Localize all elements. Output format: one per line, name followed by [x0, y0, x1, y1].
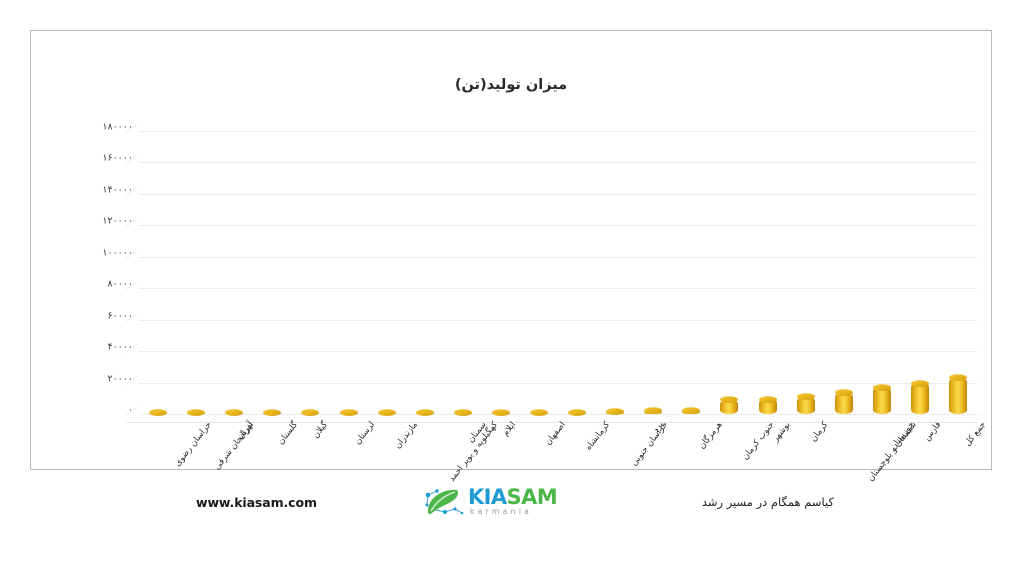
y-axis-tick-label: ۱۰۰۰۰۰: [71, 247, 133, 258]
bar[interactable]: [568, 412, 586, 414]
y-axis-tick-label: ۱۸۰۰۰۰: [71, 122, 133, 133]
chart-title: میزان تولید(تن): [31, 77, 991, 93]
bar-cap: [378, 409, 396, 416]
y-axis-tick-label: ۸۰۰۰۰: [71, 279, 133, 290]
bar[interactable]: [263, 413, 281, 415]
bar-cap: [949, 374, 967, 381]
x-axis-tick-label: کرمانشاه: [584, 420, 612, 452]
bar[interactable]: [759, 399, 777, 414]
bar-cap: [720, 396, 738, 403]
bar-cap: [682, 407, 700, 414]
bar[interactable]: [797, 397, 815, 414]
bar[interactable]: [225, 413, 243, 415]
bar[interactable]: [187, 413, 205, 415]
y-axis-tick-label: ۱۶۰۰۰۰: [71, 153, 133, 164]
logo-word-sam: SAM: [507, 485, 557, 509]
bar-cap: [530, 409, 548, 416]
bar-cap: [797, 393, 815, 400]
grid-line: [139, 288, 977, 289]
grid-line: [139, 194, 977, 195]
y-axis-tick-label: ۶۰۰۰۰: [71, 310, 133, 321]
bar[interactable]: [492, 413, 510, 415]
bar-cap: [416, 409, 434, 416]
y-axis-tick-label: ۱۴۰۰۰۰: [71, 184, 133, 195]
leaf-network-icon: [424, 488, 466, 520]
x-axis-tick-label: خراسان رضوی: [173, 420, 214, 469]
grid-line: [139, 320, 977, 321]
bar-cap: [911, 380, 929, 387]
bar-cap: [835, 389, 853, 396]
logo-wordmark: KIASAM: [468, 486, 557, 508]
kiasam-logo: KIASAM karmania: [424, 486, 574, 520]
bar[interactable]: [416, 413, 434, 415]
x-axis-tick-label: جمع کل: [963, 420, 988, 448]
bar[interactable]: [644, 411, 662, 414]
bar[interactable]: [873, 387, 891, 414]
footer-slogan: کیاسم همگام در مسیر رشد: [702, 495, 834, 509]
x-axis-tick-label: تهران: [236, 420, 256, 442]
bar-cap: [568, 409, 586, 416]
x-axis-tick-label: کرمان: [808, 420, 830, 444]
chart-frame: میزان تولید(تن) ۱۸۰۰۰۰۱۶۰۰۰۰۱۴۰۰۰۰۱۲۰۰۰۰…: [30, 30, 992, 470]
y-axis-tick-label: ۴۰۰۰۰: [71, 342, 133, 353]
grid-line: [139, 225, 977, 226]
bar[interactable]: [911, 383, 929, 414]
footer: www.kiasam.com KIASAM karmania کیاسم همگ…: [0, 482, 1024, 532]
x-axis-tick-label: هرمزگان: [697, 420, 724, 451]
bar-cap: [149, 409, 167, 416]
bar[interactable]: [340, 413, 358, 415]
x-axis-tick-label: گلستان: [276, 420, 300, 447]
grid-line: [139, 131, 977, 132]
y-axis-tick-label: ۰: [71, 405, 133, 416]
bar[interactable]: [606, 412, 624, 414]
bar-cap: [454, 409, 472, 416]
bar[interactable]: [149, 413, 167, 415]
bar-cap: [340, 409, 358, 416]
bar-cap: [759, 396, 777, 403]
bar-cap: [873, 384, 891, 391]
x-axis-tick-label: ایلام: [501, 420, 518, 438]
y-axis-tick-label: ۲۰۰۰۰: [71, 373, 133, 384]
grid-line: [139, 383, 977, 384]
grid-line: [139, 257, 977, 258]
y-axis-tick-label: ۱۲۰۰۰۰: [71, 216, 133, 227]
x-axis-tick-label: جنوب کرمان: [741, 420, 777, 462]
bar-cap: [492, 409, 510, 416]
bar[interactable]: [720, 400, 738, 414]
x-axis-tick-label: فارس: [922, 420, 943, 443]
x-axis-tick-label: اصفهان: [543, 420, 567, 447]
logo-word-kia: KIA: [468, 485, 507, 509]
bar[interactable]: [301, 413, 319, 415]
footer-website-url[interactable]: www.kiasam.com: [196, 495, 317, 510]
grid-line: [139, 162, 977, 163]
bar[interactable]: [378, 413, 396, 415]
bar[interactable]: [530, 412, 548, 414]
bar[interactable]: [835, 393, 853, 414]
grid-line: [139, 351, 977, 352]
x-axis-tick-label: گیلان: [311, 420, 330, 440]
bar[interactable]: [949, 378, 967, 414]
bar-cap: [644, 407, 662, 414]
logo-subtitle: karmania: [470, 507, 532, 516]
bar[interactable]: [454, 413, 472, 415]
bar-cap: [187, 409, 205, 416]
y-axis: ۱۸۰۰۰۰۱۶۰۰۰۰۱۴۰۰۰۰۱۲۰۰۰۰۱۰۰۰۰۰۸۰۰۰۰۶۰۰۰۰…: [67, 131, 133, 414]
x-axis-tick-label: مازندران: [393, 420, 420, 451]
x-axis-tick-label: لرستان: [353, 420, 377, 447]
plot-area: [139, 131, 977, 414]
bar[interactable]: [682, 410, 700, 414]
